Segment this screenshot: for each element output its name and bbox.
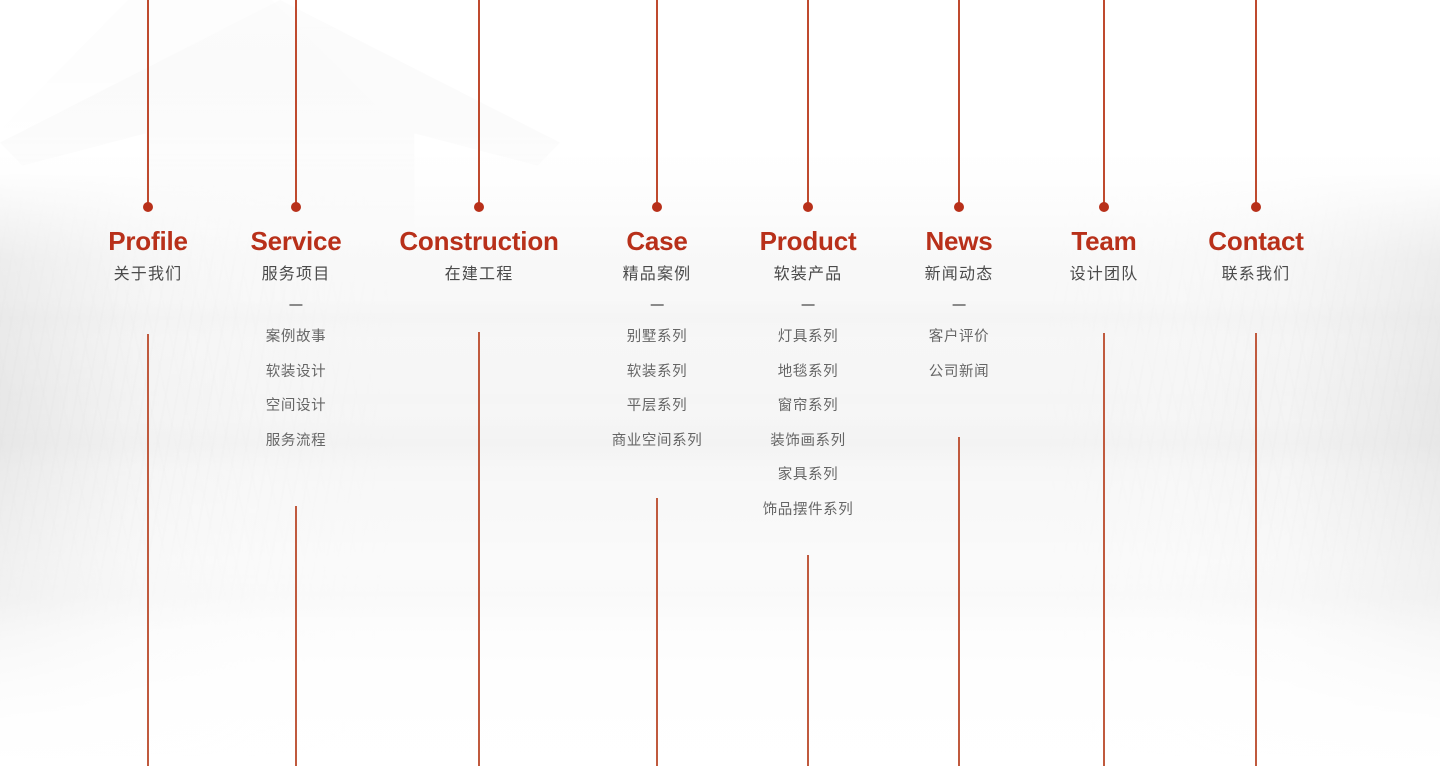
column-title-team[interactable]: Team xyxy=(1070,226,1139,256)
column-subtitle-team[interactable]: 设计团队 xyxy=(1070,264,1139,286)
column-items-service: 案例故事软装设计空间设计服务流程 xyxy=(250,320,341,458)
column-item[interactable]: 地毯系列 xyxy=(760,355,857,390)
column-title-contact[interactable]: Contact xyxy=(1208,226,1303,256)
sitemap-footer: Profile关于我们Service服务项目案例故事软装设计空间设计服务流程Co… xyxy=(0,0,1440,766)
sitemap-column-construction: Construction在建工程 xyxy=(399,226,558,286)
sitemap-column-service: Service服务项目案例故事软装设计空间设计服务流程 xyxy=(250,226,341,458)
column-title-news[interactable]: News xyxy=(925,226,994,256)
column-divider-news xyxy=(953,304,966,306)
column-subtitle-case[interactable]: 精品案例 xyxy=(612,264,703,286)
column-subtitle-contact[interactable]: 联系我们 xyxy=(1208,264,1303,286)
sitemap-column-contact: Contact联系我们 xyxy=(1208,226,1303,286)
column-item[interactable]: 服务流程 xyxy=(250,424,341,459)
column-item[interactable]: 案例故事 xyxy=(250,320,341,355)
sitemap-column-news: News新闻动态客户评价公司新闻 xyxy=(925,226,994,389)
sitemap-columns: Profile关于我们Service服务项目案例故事软装设计空间设计服务流程Co… xyxy=(0,0,1440,766)
column-item[interactable]: 软装系列 xyxy=(612,355,703,390)
column-item[interactable]: 饰品摆件系列 xyxy=(760,493,857,528)
column-subtitle-construction[interactable]: 在建工程 xyxy=(399,264,558,286)
column-item[interactable]: 客户评价 xyxy=(925,320,994,355)
sitemap-column-case: Case精品案例别墅系列软装系列平层系列商业空间系列 xyxy=(612,226,703,458)
column-item[interactable]: 装饰画系列 xyxy=(760,424,857,459)
sitemap-column-team: Team设计团队 xyxy=(1070,226,1139,286)
column-subtitle-profile[interactable]: 关于我们 xyxy=(108,264,188,286)
column-divider-product xyxy=(801,304,814,306)
column-items-news: 客户评价公司新闻 xyxy=(925,320,994,389)
column-title-product[interactable]: Product xyxy=(760,226,857,256)
column-item[interactable]: 软装设计 xyxy=(250,355,341,390)
column-items-product: 灯具系列地毯系列窗帘系列装饰画系列家具系列饰品摆件系列 xyxy=(760,320,857,527)
column-item[interactable]: 别墅系列 xyxy=(612,320,703,355)
column-title-service[interactable]: Service xyxy=(250,226,341,256)
sitemap-column-profile: Profile关于我们 xyxy=(108,226,188,286)
column-item[interactable]: 公司新闻 xyxy=(925,355,994,390)
sitemap-column-product: Product软装产品灯具系列地毯系列窗帘系列装饰画系列家具系列饰品摆件系列 xyxy=(760,226,857,527)
column-subtitle-news[interactable]: 新闻动态 xyxy=(925,264,994,286)
column-divider-service xyxy=(290,304,303,306)
column-subtitle-service[interactable]: 服务项目 xyxy=(250,264,341,286)
column-item[interactable]: 商业空间系列 xyxy=(612,424,703,459)
column-item[interactable]: 窗帘系列 xyxy=(760,389,857,424)
column-item[interactable]: 平层系列 xyxy=(612,389,703,424)
column-divider-case xyxy=(650,304,663,306)
column-item[interactable]: 家具系列 xyxy=(760,458,857,493)
column-title-profile[interactable]: Profile xyxy=(108,226,188,256)
column-item[interactable]: 灯具系列 xyxy=(760,320,857,355)
column-title-case[interactable]: Case xyxy=(612,226,703,256)
column-items-case: 别墅系列软装系列平层系列商业空间系列 xyxy=(612,320,703,458)
column-item[interactable]: 空间设计 xyxy=(250,389,341,424)
column-subtitle-product[interactable]: 软装产品 xyxy=(760,264,857,286)
column-title-construction[interactable]: Construction xyxy=(399,226,558,256)
